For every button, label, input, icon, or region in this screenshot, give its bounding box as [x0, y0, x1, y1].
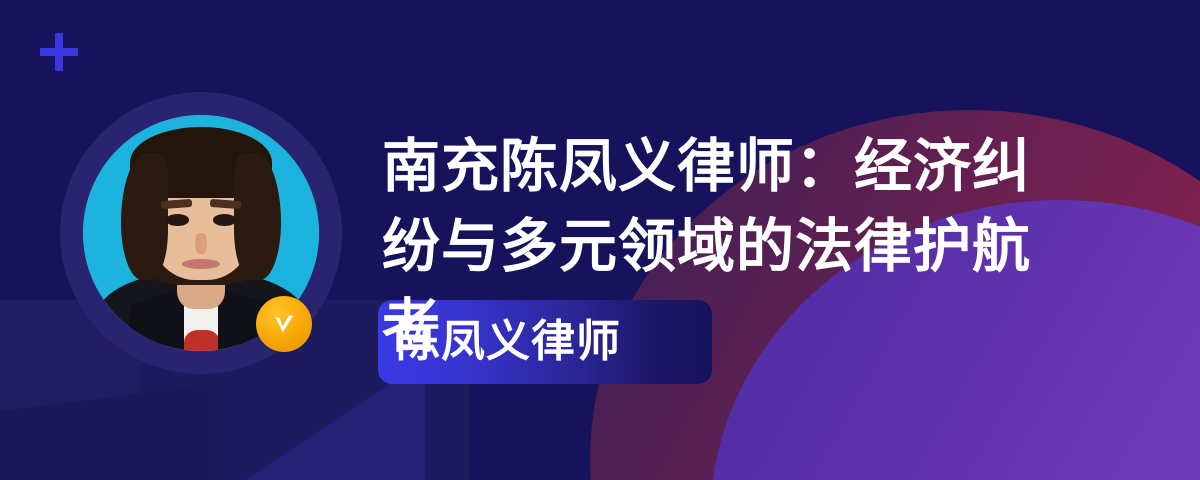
title-line-2: 纷与多元领域的法律护航 — [382, 206, 1082, 286]
lawyer-profile-banner: 南充陈凤义律师：经济纠 纷与多元领域的法律护航 者 陈凤义律师 — [0, 0, 1200, 480]
title-line-1: 南充陈凤义律师：经济纠 — [382, 126, 1082, 206]
avatar[interactable] — [60, 92, 342, 374]
verified-badge-icon — [256, 296, 312, 352]
plus-icon — [40, 33, 78, 71]
decorative-triangle-far-left — [0, 385, 210, 480]
title-line-3: 者 — [382, 286, 1082, 366]
page-title: 南充陈凤义律师：经济纠 纷与多元领域的法律护航 者 — [382, 126, 1082, 366]
